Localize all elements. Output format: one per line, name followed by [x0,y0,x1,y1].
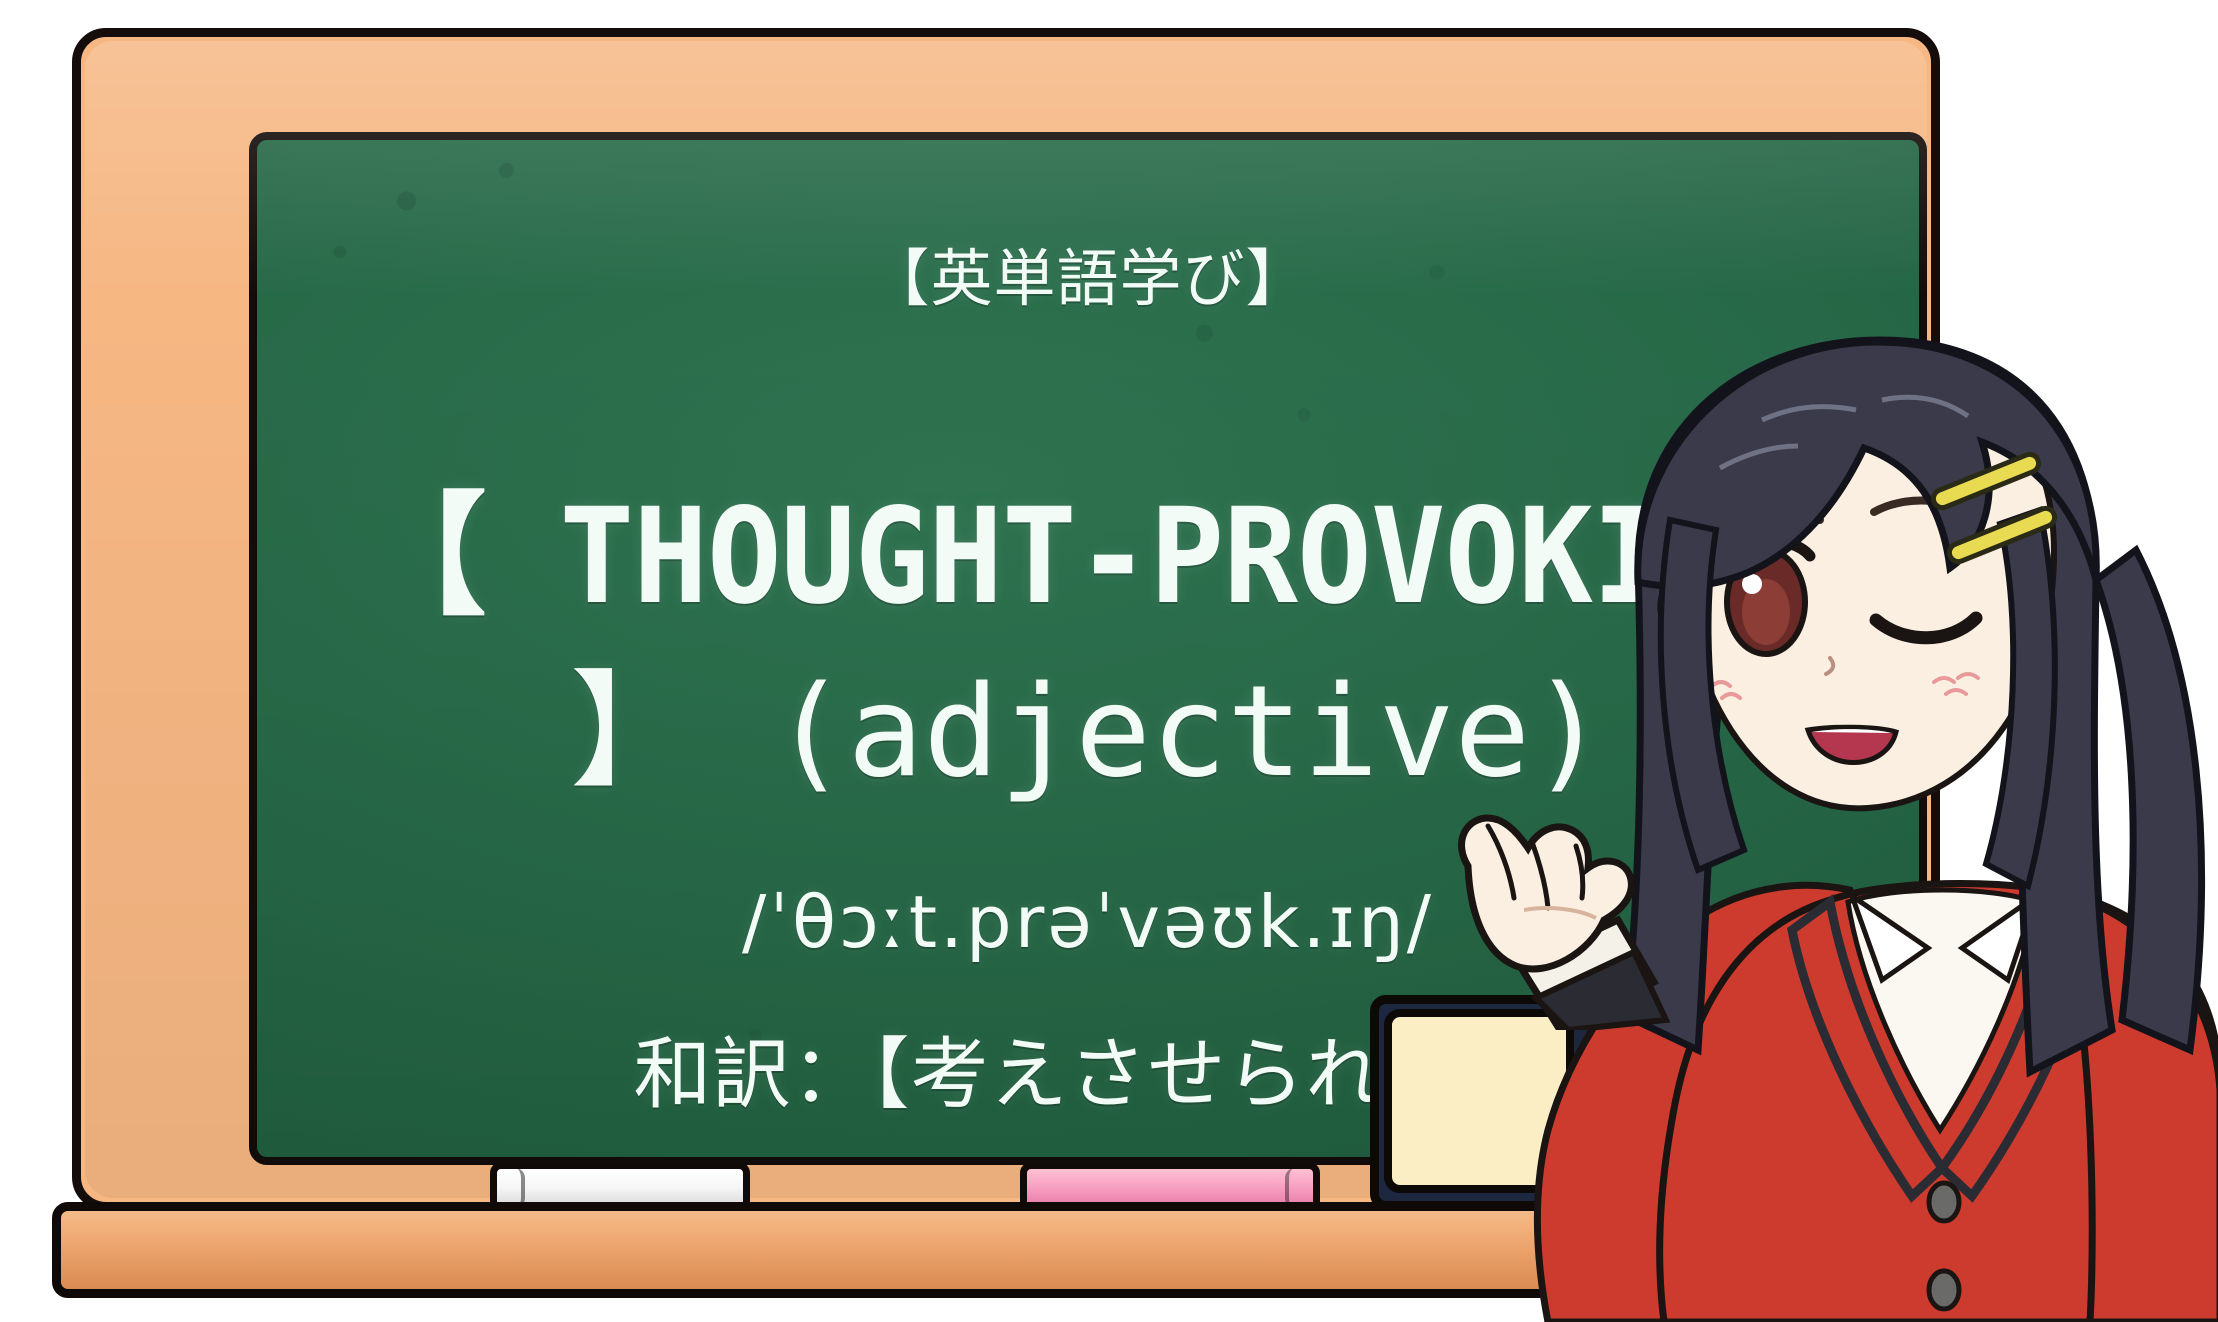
screenshot-root: 【英単語学び】 【 THOUGHT-PROVOKING 】 (adjective… [0,0,2218,1322]
blazer-button-bottom [1929,1271,1959,1309]
blazer-button-top [1929,1183,1959,1221]
board-heading: 【英単語学び】 [257,228,1919,318]
presenting-hand [1428,770,1728,1030]
